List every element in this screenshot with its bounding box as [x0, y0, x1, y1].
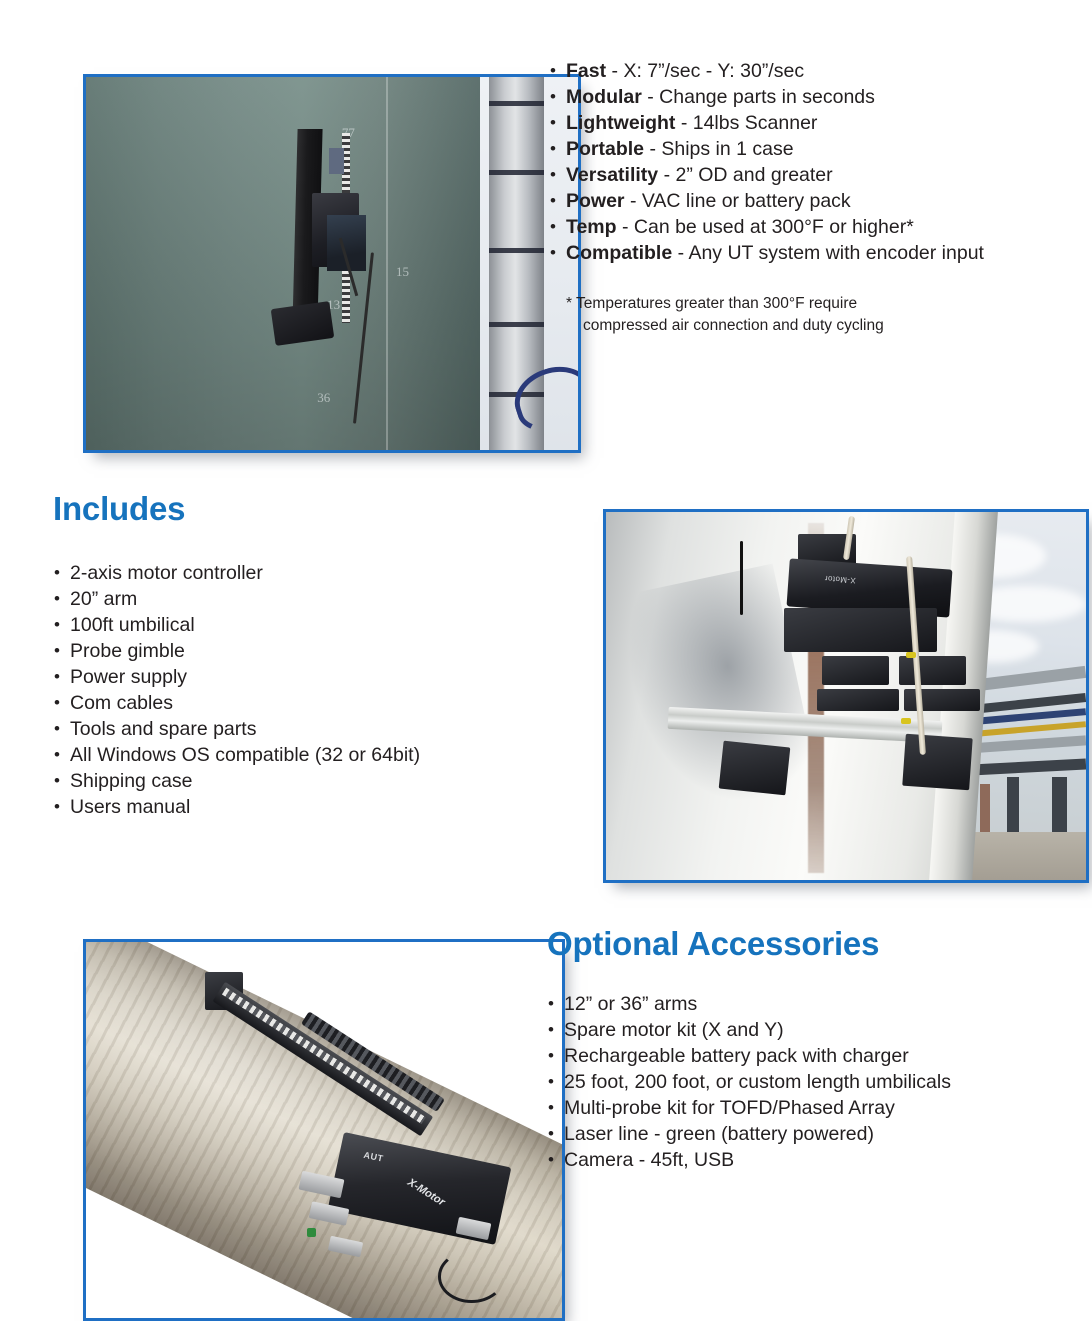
feature-desc: - 2” OD and greater	[664, 164, 833, 186]
magnet-wheel-left	[719, 740, 791, 795]
list-item: 20” arm	[53, 586, 523, 612]
carriage-block	[899, 656, 966, 685]
optional-accessories-section: Optional Accessories 12” or 36” arms Spa…	[547, 925, 1057, 1173]
list-item: Tools and spare parts	[53, 716, 523, 742]
probe-tag	[329, 148, 345, 174]
list-item: 25 foot, 200 foot, or custom length umbi…	[547, 1069, 1057, 1095]
list-item: Camera - 45ft, USB	[547, 1147, 1057, 1173]
list-item: 12” or 36” arms	[547, 991, 1057, 1017]
list-item: Com cables	[53, 690, 523, 716]
includes-section: Includes 2-axis motor controller 20” arm…	[53, 490, 523, 820]
optional-accessories-heading: Optional Accessories	[547, 925, 1057, 963]
feature-item: Compatible - Any UT system with encoder …	[549, 240, 1079, 266]
pipe-band	[489, 170, 543, 175]
pipe-band	[489, 248, 543, 253]
photo-tank-scene: 77 15 13 36	[86, 77, 578, 450]
feature-desc: - 14lbs Scanner	[681, 112, 818, 134]
tank-wall	[86, 77, 480, 450]
aut-brand-label: AUT	[362, 1149, 384, 1163]
photo-vessel-scene: X-Motor	[606, 512, 1086, 880]
feature-item: Versatility - 2” OD and greater	[549, 162, 1079, 188]
photo-scanner-on-pipe: AUT X-Motor	[83, 939, 565, 1321]
chalk-mark: 36	[317, 390, 330, 406]
list-item: Power supply	[53, 664, 523, 690]
list-item: 100ft umbilical	[53, 612, 523, 638]
photo-pipe-scene: AUT X-Motor	[86, 942, 562, 1318]
feature-term: Modular	[566, 86, 642, 108]
magnet-wheel-right	[902, 734, 973, 790]
feature-term: Versatility	[566, 164, 658, 186]
feature-desc: - Change parts in seconds	[647, 86, 875, 108]
pipe-band	[489, 322, 543, 327]
feature-item: Modular - Change parts in seconds	[549, 84, 1079, 110]
footnote-line-1: * Temperatures greater than 300°F requir…	[566, 293, 1036, 315]
temperature-footnote: * Temperatures greater than 300°F requir…	[566, 293, 1036, 337]
probe-gimble	[271, 301, 335, 346]
list-item: Shipping case	[53, 768, 523, 794]
feature-term: Compatible	[566, 242, 672, 264]
chalk-mark: 15	[396, 264, 409, 280]
includes-heading: Includes	[53, 490, 523, 528]
zip-tie	[901, 718, 911, 724]
feature-term: Fast	[566, 60, 606, 82]
feature-term: Portable	[566, 138, 644, 160]
clamp-block	[817, 689, 899, 711]
list-item: Multi-probe kit for TOFD/Phased Array	[547, 1095, 1057, 1121]
feature-item: Portable - Ships in 1 case	[549, 136, 1079, 162]
photo-scanner-on-vessel: X-Motor	[603, 509, 1089, 883]
carriage-block	[822, 656, 889, 685]
green-indicator	[307, 1228, 316, 1237]
features-bullets: Fast - X: 7”/sec - Y: 30”/sec Modular - …	[549, 58, 1079, 266]
feature-term: Power	[566, 190, 625, 212]
power-cable	[740, 541, 743, 615]
list-item: Spare motor kit (X and Y)	[547, 1017, 1057, 1043]
tank-seam	[386, 77, 388, 450]
list-item: Users manual	[53, 794, 523, 820]
includes-bullets: 2-axis motor controller 20” arm 100ft um…	[53, 560, 523, 820]
pipe-band	[489, 101, 543, 106]
feature-desc: - Can be used at 300°F or higher*	[622, 216, 914, 238]
umbilical-cable-loop	[438, 1250, 505, 1303]
list-item: 2-axis motor controller	[53, 560, 523, 586]
x-motor-label: X-Motor	[405, 1176, 447, 1208]
list-item: Probe gimble	[53, 638, 523, 664]
feature-term: Lightweight	[566, 112, 675, 134]
features-list: Fast - X: 7”/sec - Y: 30”/sec Modular - …	[549, 58, 1079, 266]
x-motor-label: X-Motor	[824, 574, 856, 585]
feature-item: Lightweight - 14lbs Scanner	[549, 110, 1079, 136]
feature-desc: - Any UT system with encoder input	[678, 242, 984, 264]
list-item: Rechargeable battery pack with charger	[547, 1043, 1057, 1069]
feature-term: Temp	[566, 216, 617, 238]
feature-item: Fast - X: 7”/sec - Y: 30”/sec	[549, 58, 1079, 84]
feature-item: Power - VAC line or battery pack	[549, 188, 1079, 214]
zip-tie	[906, 652, 916, 658]
optional-bullets: 12” or 36” arms Spare motor kit (X and Y…	[547, 991, 1057, 1173]
footnote-line-2: compressed air connection and duty cycli…	[566, 315, 1036, 337]
list-item: Laser line - green (battery powered)	[547, 1121, 1057, 1147]
list-item: All Windows OS compatible (32 or 64bit)	[53, 742, 523, 768]
feature-item: Temp - Can be used at 300°F or higher*	[549, 214, 1079, 240]
feature-desc: - X: 7”/sec - Y: 30”/sec	[612, 60, 805, 82]
feature-desc: - VAC line or battery pack	[630, 190, 851, 212]
feature-desc: - Ships in 1 case	[649, 138, 793, 160]
photo-scanner-on-tank: 77 15 13 36	[83, 74, 581, 453]
